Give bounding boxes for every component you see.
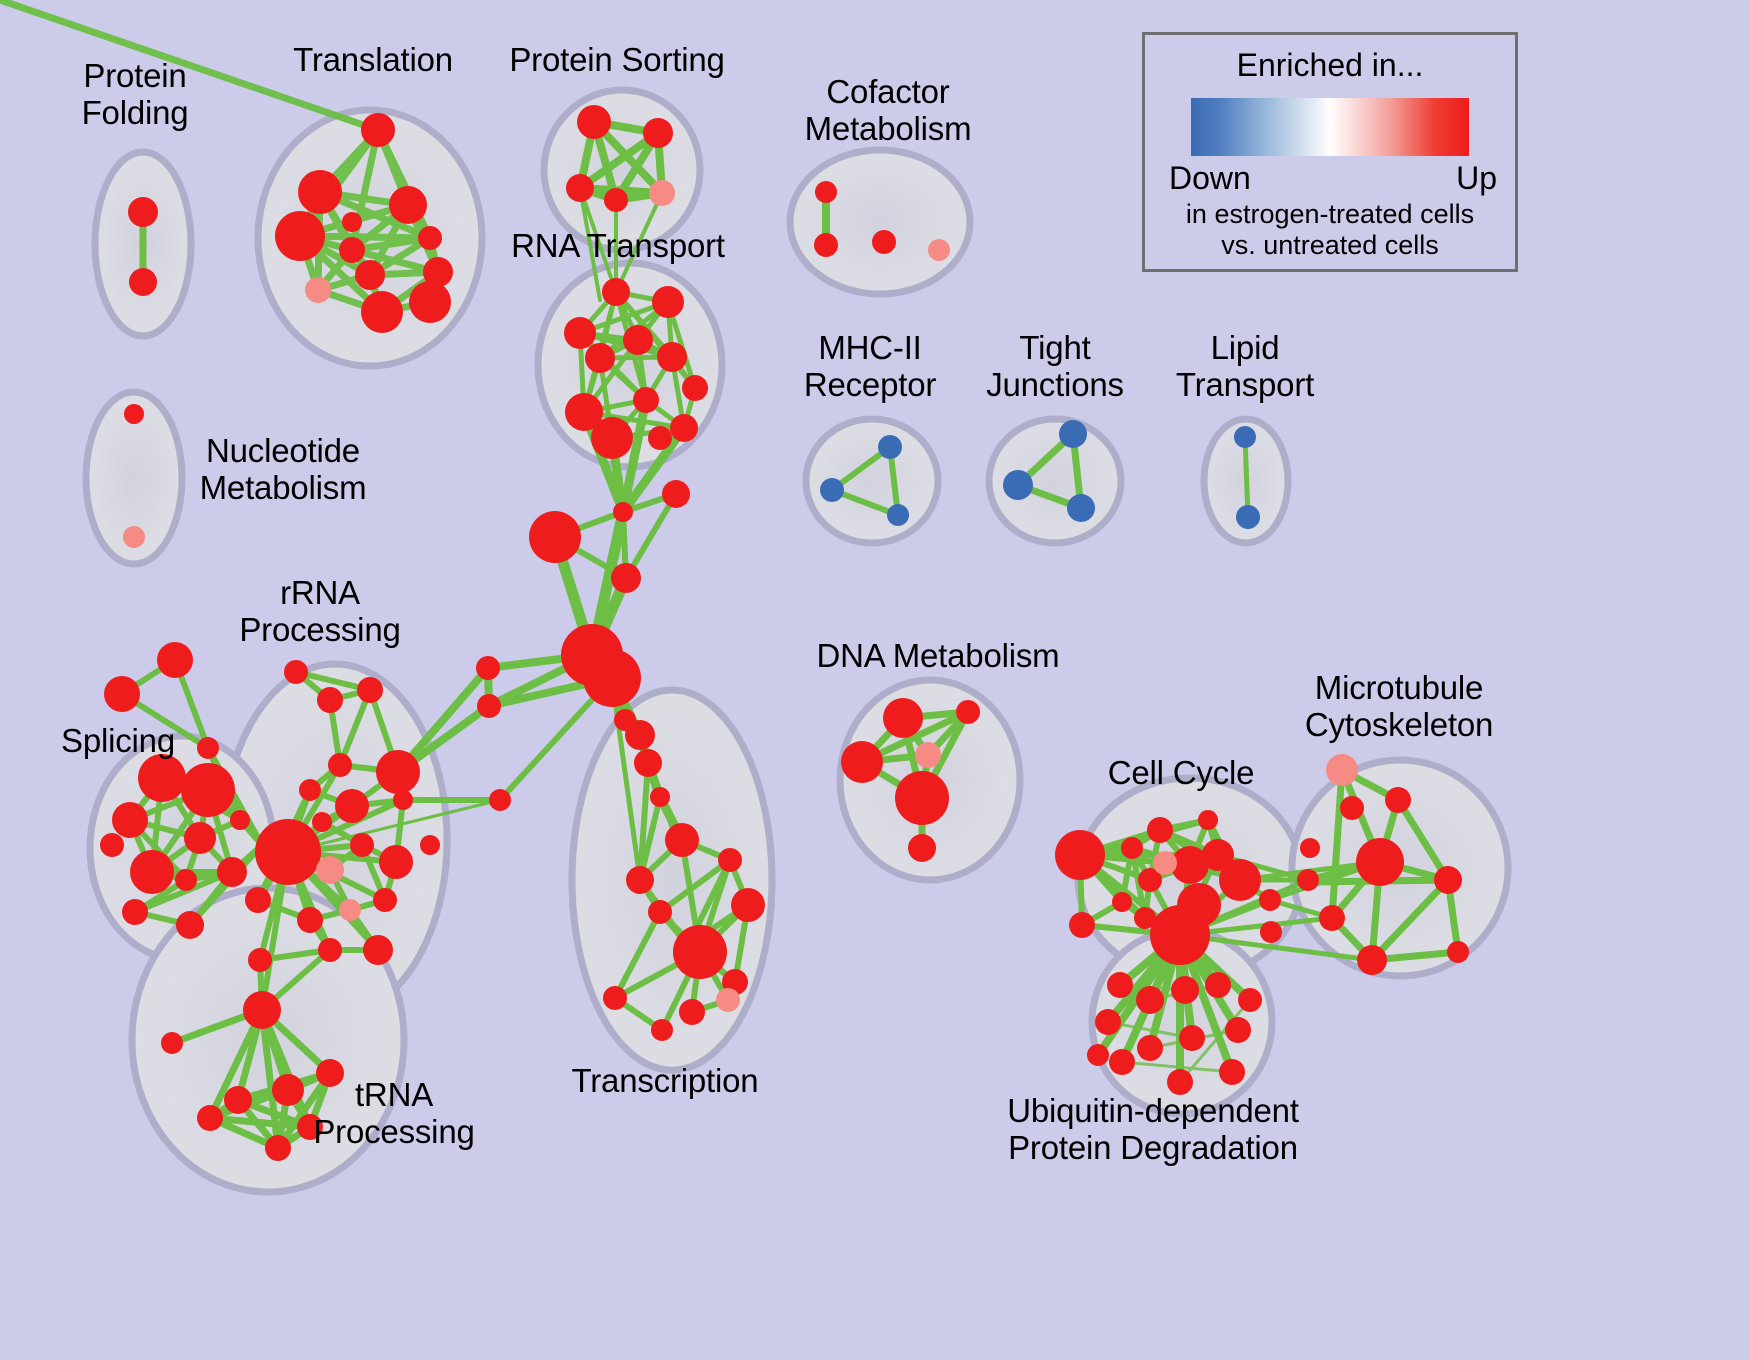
node — [298, 170, 342, 214]
node — [956, 700, 980, 724]
color-scale-bar — [1191, 98, 1469, 156]
node — [128, 197, 158, 227]
node — [1447, 941, 1469, 963]
node — [275, 211, 325, 261]
node — [1259, 889, 1281, 911]
node — [1136, 986, 1164, 1014]
cluster-label-rrna-processing: rRNA Processing — [239, 575, 400, 649]
node — [649, 180, 675, 206]
node — [623, 325, 653, 355]
node — [603, 986, 627, 1010]
node — [814, 233, 838, 257]
node — [1236, 505, 1260, 529]
node — [312, 812, 332, 832]
node — [1340, 796, 1364, 820]
node — [613, 502, 633, 522]
node — [224, 1086, 252, 1114]
node — [650, 787, 670, 807]
node — [652, 286, 684, 318]
node — [393, 790, 413, 810]
node — [1385, 787, 1411, 813]
node — [1234, 426, 1256, 448]
node — [872, 230, 896, 254]
node — [130, 850, 174, 894]
node — [317, 687, 343, 713]
node — [577, 105, 611, 139]
node — [361, 291, 403, 333]
node — [591, 417, 633, 459]
node — [161, 1032, 183, 1054]
node — [1137, 1035, 1163, 1061]
node — [197, 1105, 223, 1131]
node — [716, 988, 740, 1012]
legend-caption: in estrogen-treated cells vs. untreated … — [1145, 199, 1515, 261]
node — [657, 342, 687, 372]
cluster-ellipse-cofactor-metabolism — [790, 150, 970, 294]
node — [373, 888, 397, 912]
node — [1219, 1059, 1245, 1085]
node — [389, 186, 427, 224]
cluster-label-microtubule-cytoskeleton: Microtubule Cytoskeleton — [1305, 670, 1493, 744]
node — [1300, 838, 1320, 858]
cluster-label-cell-cycle: Cell Cycle — [1108, 755, 1255, 792]
node — [318, 938, 342, 962]
node — [648, 900, 672, 924]
node — [176, 911, 204, 939]
node — [357, 677, 383, 703]
node — [634, 749, 662, 777]
node — [815, 181, 837, 203]
node — [1069, 912, 1095, 938]
node — [1198, 810, 1218, 830]
legend-title: Enriched in... — [1145, 47, 1515, 84]
legend-high-label: Up — [1456, 160, 1497, 197]
node — [100, 833, 124, 857]
legend-low-label: Down — [1169, 160, 1251, 197]
node — [363, 935, 393, 965]
node — [1003, 470, 1033, 500]
cluster-label-mhc-ii-receptor: MHC-II Receptor — [804, 330, 936, 404]
node — [316, 856, 344, 884]
node — [585, 343, 615, 373]
node — [129, 268, 157, 296]
node — [1153, 851, 1177, 875]
node — [339, 899, 361, 921]
node — [1434, 866, 1462, 894]
node — [1171, 976, 1199, 1004]
cluster-label-splicing: Splicing — [61, 723, 175, 760]
node — [1219, 859, 1261, 901]
node — [339, 237, 365, 263]
node — [476, 656, 500, 680]
node — [583, 649, 641, 707]
node — [908, 834, 936, 862]
cluster-label-translation: Translation — [293, 42, 453, 79]
node — [915, 742, 941, 768]
node — [673, 925, 727, 979]
node — [529, 511, 581, 563]
legend-box: Enriched in... Down Up in estrogen-treat… — [1142, 32, 1518, 272]
node — [420, 835, 440, 855]
cluster-label-cofactor-metabolism: Cofactor Metabolism — [805, 74, 972, 148]
node — [648, 426, 672, 450]
cluster-label-ubiquitin-protein-degradation: Ubiquitin-dependent Protein Degradation — [1007, 1093, 1299, 1167]
node — [564, 317, 596, 349]
node — [122, 899, 148, 925]
node — [1238, 988, 1262, 1012]
node — [1260, 921, 1282, 943]
node — [878, 435, 902, 459]
node — [104, 676, 140, 712]
node — [1121, 837, 1143, 859]
node — [1297, 869, 1319, 891]
cluster-label-protein-folding: Protein Folding — [82, 58, 189, 132]
node — [614, 709, 636, 731]
node — [477, 694, 501, 718]
node — [265, 1135, 291, 1161]
node — [123, 526, 145, 548]
node — [718, 848, 742, 872]
node — [682, 375, 708, 401]
node — [604, 188, 628, 212]
node — [662, 480, 690, 508]
node — [1087, 1044, 1109, 1066]
cluster-label-protein-sorting: Protein Sorting — [509, 42, 724, 79]
node — [409, 281, 451, 323]
node — [1095, 1009, 1121, 1035]
node — [1357, 945, 1387, 975]
legend-caption-line1: in estrogen-treated cells — [1145, 199, 1515, 230]
node — [335, 789, 369, 823]
cluster-label-trna-processing: tRNA Processing — [313, 1077, 474, 1151]
node — [197, 737, 219, 759]
node — [489, 789, 511, 811]
node — [1059, 420, 1087, 448]
node — [245, 887, 271, 913]
node — [181, 763, 235, 817]
node — [887, 504, 909, 526]
node — [665, 823, 699, 857]
node — [255, 819, 321, 885]
node — [633, 387, 659, 413]
node — [1225, 1017, 1251, 1043]
node — [157, 642, 193, 678]
node — [670, 414, 698, 442]
node — [272, 1074, 304, 1106]
node — [679, 999, 705, 1025]
node — [643, 118, 673, 148]
node — [1177, 883, 1221, 927]
node — [418, 226, 442, 250]
node — [883, 698, 923, 738]
legend-caption-line2: vs. untreated cells — [1145, 230, 1515, 261]
node — [217, 857, 247, 887]
node — [299, 779, 321, 801]
cluster-label-transcription: Transcription — [572, 1063, 759, 1100]
node — [379, 845, 413, 879]
cluster-label-lipid-transport: Lipid Transport — [1176, 330, 1314, 404]
node — [928, 239, 950, 261]
legend-endpoints: Down Up — [1145, 156, 1515, 197]
node — [1356, 838, 1404, 886]
node — [355, 260, 385, 290]
node — [1055, 830, 1105, 880]
node — [1112, 892, 1132, 912]
enrichment-map-figure: Protein Folding Translation Protein Sort… — [0, 0, 1750, 1360]
node — [342, 212, 362, 232]
node — [820, 478, 844, 502]
cluster-label-tight-junctions: Tight Junctions — [986, 330, 1124, 404]
node — [566, 174, 594, 202]
node — [284, 660, 308, 684]
node — [1109, 1049, 1135, 1075]
node — [230, 810, 250, 830]
cluster-ellipse-protein-sorting — [544, 90, 700, 250]
node — [731, 888, 765, 922]
node — [350, 833, 374, 857]
node — [1107, 972, 1133, 998]
node — [305, 277, 331, 303]
node — [138, 754, 186, 802]
node — [895, 771, 949, 825]
node — [243, 991, 281, 1029]
node — [1179, 1025, 1205, 1051]
node — [1326, 754, 1358, 786]
node — [297, 907, 323, 933]
node — [602, 278, 630, 306]
node — [328, 753, 352, 777]
node — [651, 1019, 673, 1041]
node — [1147, 817, 1173, 843]
node — [112, 802, 148, 838]
node — [124, 404, 144, 424]
node — [611, 563, 641, 593]
node — [361, 113, 395, 147]
cluster-label-dna-metabolism: DNA Metabolism — [817, 638, 1060, 675]
node — [1319, 905, 1345, 931]
node — [841, 741, 883, 783]
node — [1205, 972, 1231, 998]
cluster-label-nucleotide-metabolism: Nucleotide Metabolism — [200, 433, 367, 507]
node — [175, 869, 197, 891]
node — [1067, 494, 1095, 522]
node — [248, 948, 272, 972]
node — [626, 866, 654, 894]
node — [184, 822, 216, 854]
node — [376, 750, 420, 794]
cluster-label-rna-transport: RNA Transport — [511, 228, 725, 265]
